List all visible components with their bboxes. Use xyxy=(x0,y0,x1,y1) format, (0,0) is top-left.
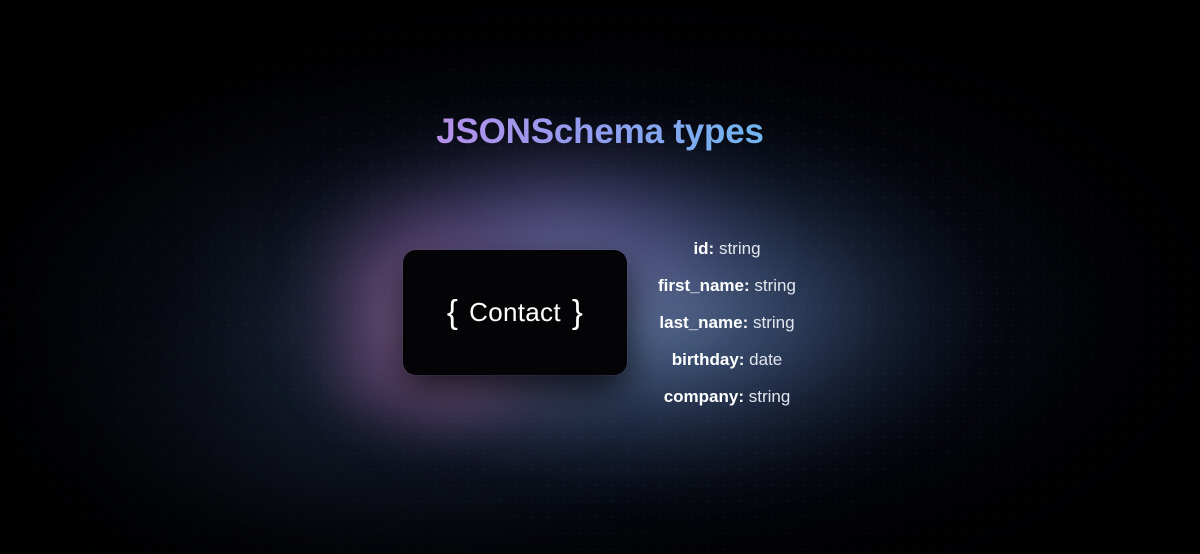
field-key: first_name: xyxy=(658,276,750,295)
field-type: string xyxy=(754,276,796,295)
field-key: last_name: xyxy=(659,313,748,332)
field-row: company: string xyxy=(658,378,796,415)
entity-card: { Contact } xyxy=(403,250,627,375)
field-row: last_name: string xyxy=(658,304,796,341)
field-key: company: xyxy=(664,387,744,406)
field-row: first_name: string xyxy=(658,267,796,304)
schema-field-list: id: string first_name: string last_name:… xyxy=(658,230,796,415)
field-type: string xyxy=(753,313,795,332)
hero-stage: JSONSchema types { Contact } id: string … xyxy=(0,0,1200,554)
field-type: date xyxy=(749,350,782,369)
field-key: birthday: xyxy=(672,350,745,369)
entity-name: Contact xyxy=(469,297,561,328)
field-type: string xyxy=(749,387,791,406)
entity-card-label: { Contact } xyxy=(447,296,583,329)
field-type: string xyxy=(719,239,761,258)
field-row: id: string xyxy=(658,230,796,267)
field-key: id: xyxy=(693,239,714,258)
page-title: JSONSchema types xyxy=(0,113,1200,151)
brace-close-icon: } xyxy=(572,295,583,328)
brace-open-icon: { xyxy=(447,295,458,328)
field-row: birthday: date xyxy=(658,341,796,378)
